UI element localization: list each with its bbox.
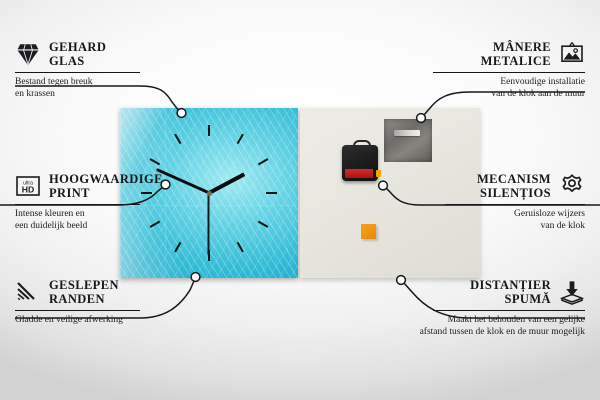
clock-front-face [120, 108, 298, 278]
down-arrow-pad-icon [559, 279, 585, 305]
title-rule [15, 72, 140, 73]
hanger-plate [384, 119, 432, 162]
feature-desc: Eenvoudige installatie van de klok aan d… [433, 76, 585, 100]
hour-hand [208, 172, 245, 194]
title-rule [15, 310, 140, 311]
hour-tick [237, 134, 244, 145]
infographic-canvas: GEHARD GLAS Bestand tegen breuk en krass… [0, 0, 600, 400]
diamond-icon [15, 41, 41, 67]
feature-tempered-glass: GEHARD GLAS Bestand tegen breuk en krass… [15, 40, 160, 100]
feature-desc: Geruisloze wijzers van de klok [445, 208, 585, 232]
feature-desc: Bestand tegen breuk en krassen [15, 76, 160, 100]
feature-silent-mechanism: MECANISM SILENȚIOS Geruisloze wijzers va… [445, 172, 585, 232]
hour-tick [174, 134, 181, 145]
feature-title: DISTANȚIER SPUMĂ [470, 278, 551, 306]
picture-frame-icon [559, 41, 585, 67]
gear-icon [559, 173, 585, 199]
product-photo [120, 108, 480, 278]
minute-hand [155, 168, 209, 194]
foam-spacer-pad [361, 224, 376, 239]
battery [345, 169, 373, 178]
feature-desc: Maakt het behouden van een gelijke afsta… [375, 314, 585, 338]
title-rule [445, 204, 585, 205]
hour-tick [208, 125, 210, 136]
hour-tick [258, 221, 269, 228]
hour-tick [174, 242, 181, 253]
title-rule [433, 72, 585, 73]
hand-center-cap [207, 191, 212, 196]
hour-tick [266, 192, 277, 194]
clock-dial [120, 108, 298, 278]
feature-title: MECANISM SILENȚIOS [477, 172, 551, 200]
hour-tick [237, 242, 244, 253]
svg-text:HD: HD [22, 185, 34, 195]
hour-tick [150, 158, 161, 165]
second-hand [208, 193, 210, 255]
title-rule [433, 310, 585, 311]
hour-tick [141, 192, 152, 194]
clock-mechanism [342, 145, 378, 181]
feature-desc: Gladde en veilige afwerking [15, 314, 165, 326]
battery-terminal [376, 170, 381, 177]
feature-title: GESLEPEN RANDEN [49, 278, 119, 306]
hanger-slot [394, 130, 420, 136]
beveled-edge-icon [15, 279, 41, 305]
hour-tick [258, 158, 269, 165]
ultra-hd-icon: ultra HD [15, 173, 41, 199]
feature-metal-handles: MÂNERE METALICE Eenvoudige installatie v… [433, 40, 585, 100]
feature-title: MÂNERE METALICE [481, 40, 551, 68]
feature-foam-spacer: DISTANȚIER SPUMĂ Maakt het behouden van … [433, 278, 585, 338]
feature-polished-edges: GESLEPEN RANDEN Gladde en veilige afwerk… [15, 278, 165, 326]
hour-tick [150, 221, 161, 228]
feature-title: GEHARD GLAS [49, 40, 106, 68]
mechanism-hook [353, 140, 371, 151]
